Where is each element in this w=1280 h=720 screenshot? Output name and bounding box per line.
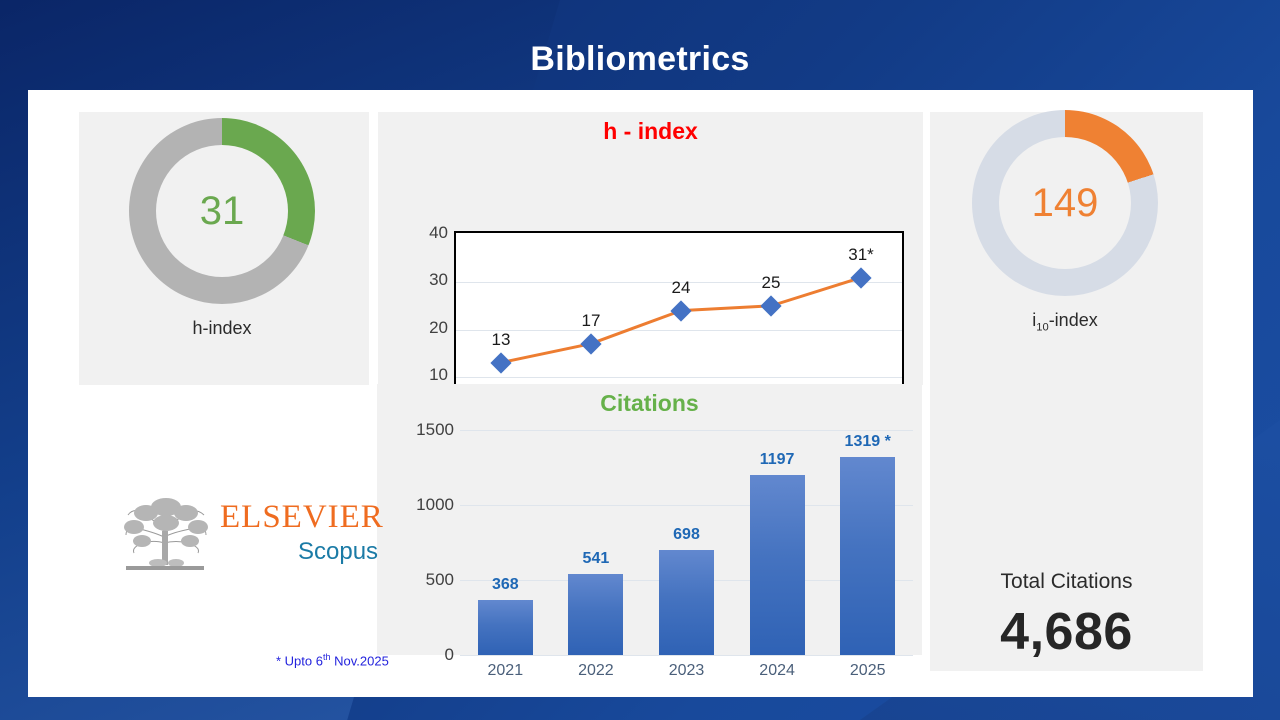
line-chart-point-label: 31* — [848, 245, 874, 265]
bar-chart-value-label: 368 — [492, 576, 519, 594]
line-chart-point-label: 13 — [492, 330, 511, 350]
bar-chart-ytick: 1500 — [404, 420, 454, 440]
bar-chart-y-axis: 050010001500 — [402, 430, 454, 655]
i10-gauge: 149 i10-index — [972, 110, 1158, 334]
i10-donut-hole: 149 — [999, 137, 1131, 269]
hindex-value: 31 — [200, 191, 245, 231]
elsevier-scopus-logo: ELSEVIER Scopus — [98, 485, 398, 580]
line-chart-point-label: 24 — [672, 278, 691, 298]
bar-chart-plot-area: 36854169811971319 * — [460, 430, 913, 655]
hindex-gauge: 31 h-index — [129, 118, 315, 339]
hindex-donut-hole: 31 — [156, 145, 288, 277]
total-citations-label: Total Citations — [930, 570, 1203, 594]
bar-chart-x-axis: 20212022202320242025 — [460, 662, 913, 688]
line-chart-ytick: 40 — [408, 223, 448, 243]
line-chart-point-label: 25 — [762, 273, 781, 293]
bar-chart-bar — [750, 475, 805, 655]
bar-chart-bar — [568, 574, 623, 655]
i10-caption-subscript: 10 — [1036, 322, 1048, 334]
line-chart-ytick: 20 — [408, 318, 448, 338]
bar-chart-gridline — [460, 430, 913, 431]
footnote-ordinal: th — [323, 652, 331, 662]
bar-chart-ytick: 500 — [404, 570, 454, 590]
bar-chart-bar — [840, 457, 895, 655]
bar-chart-value-label: 541 — [583, 550, 610, 568]
bar-chart-bar — [478, 600, 533, 655]
footnote-prefix: * Upto 6 — [276, 653, 323, 668]
hindex-donut-ring: 31 — [129, 118, 315, 304]
i10-donut-ring: 149 — [972, 110, 1158, 296]
scopus-wordmark: Scopus — [298, 538, 378, 566]
bar-chart-bar — [659, 550, 714, 655]
footnote: * Upto 6th Nov.2025 — [276, 652, 389, 668]
i10-caption: i10-index — [972, 310, 1158, 334]
bar-chart-ytick: 1000 — [404, 495, 454, 515]
bar-chart-ytick: 0 — [404, 645, 454, 665]
elsevier-wordmark: ELSEVIER — [220, 499, 384, 536]
bar-chart-title: Citations — [377, 390, 922, 417]
content-card: 31 h-index h - index 010203040 131724253… — [28, 90, 1253, 697]
bar-chart-gridline — [460, 655, 913, 656]
line-chart-point-label: 17 — [582, 311, 601, 331]
page-title: Bibliometrics — [0, 40, 1280, 79]
bar-chart-value-label: 698 — [673, 526, 700, 544]
total-citations-value: 4,686 — [930, 602, 1203, 662]
line-chart-title: h - index — [378, 118, 923, 145]
bar-chart-value-label: 1197 — [760, 451, 795, 469]
bar-chart-xtick: 2022 — [578, 662, 614, 680]
line-chart-ytick: 10 — [408, 365, 448, 385]
i10-caption-tail: -index — [1049, 310, 1098, 330]
bar-chart-xtick: 2025 — [850, 662, 886, 680]
elsevier-tree-icon — [118, 487, 214, 575]
bar-chart-xtick: 2023 — [669, 662, 705, 680]
i10-value: 149 — [1032, 183, 1099, 223]
footnote-suffix: Nov.2025 — [331, 653, 389, 668]
bar-chart-xtick: 2021 — [488, 662, 524, 680]
bar-chart-xtick: 2024 — [759, 662, 795, 680]
hindex-caption: h-index — [129, 318, 315, 339]
line-chart-ytick: 30 — [408, 270, 448, 290]
bar-chart-value-label: 1319 * — [845, 433, 891, 451]
